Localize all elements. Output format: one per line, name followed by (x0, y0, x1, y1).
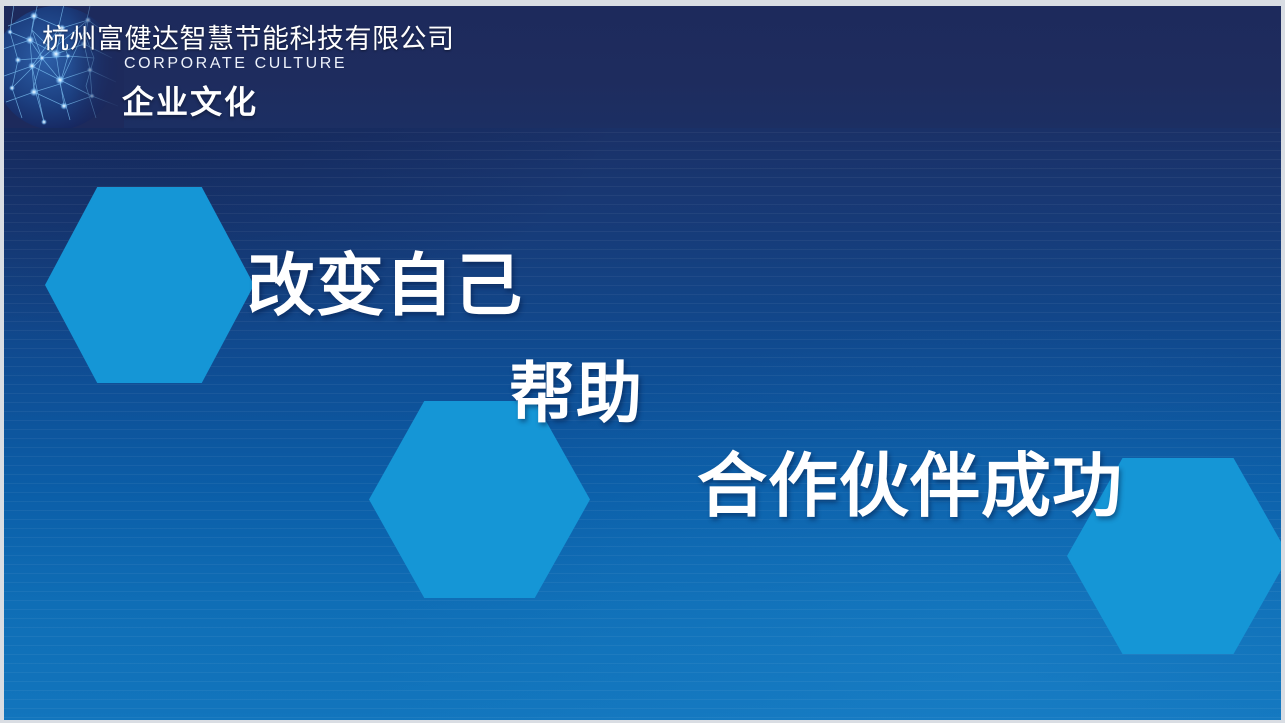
section-title-chinese: 企业文化 (122, 77, 258, 123)
company-name: 杭州富健达智慧节能科技有限公司 (42, 17, 455, 56)
slogan-line-3: 合作伙伴成功 (697, 430, 1123, 531)
slogan-line-2: 帮助 (509, 340, 643, 436)
section-title-english: CORPORATE CULTURE (124, 55, 347, 73)
slogan-line-1: 改变自己 (247, 230, 523, 329)
presentation-slide: 杭州富健达智慧节能科技有限公司 CORPORATE CULTURE 企业文化 改… (4, 6, 1281, 720)
hexagon-shape-1 (45, 187, 254, 383)
slide-header-band: 杭州富健达智慧节能科技有限公司 CORPORATE CULTURE 企业文化 (4, 6, 1281, 128)
